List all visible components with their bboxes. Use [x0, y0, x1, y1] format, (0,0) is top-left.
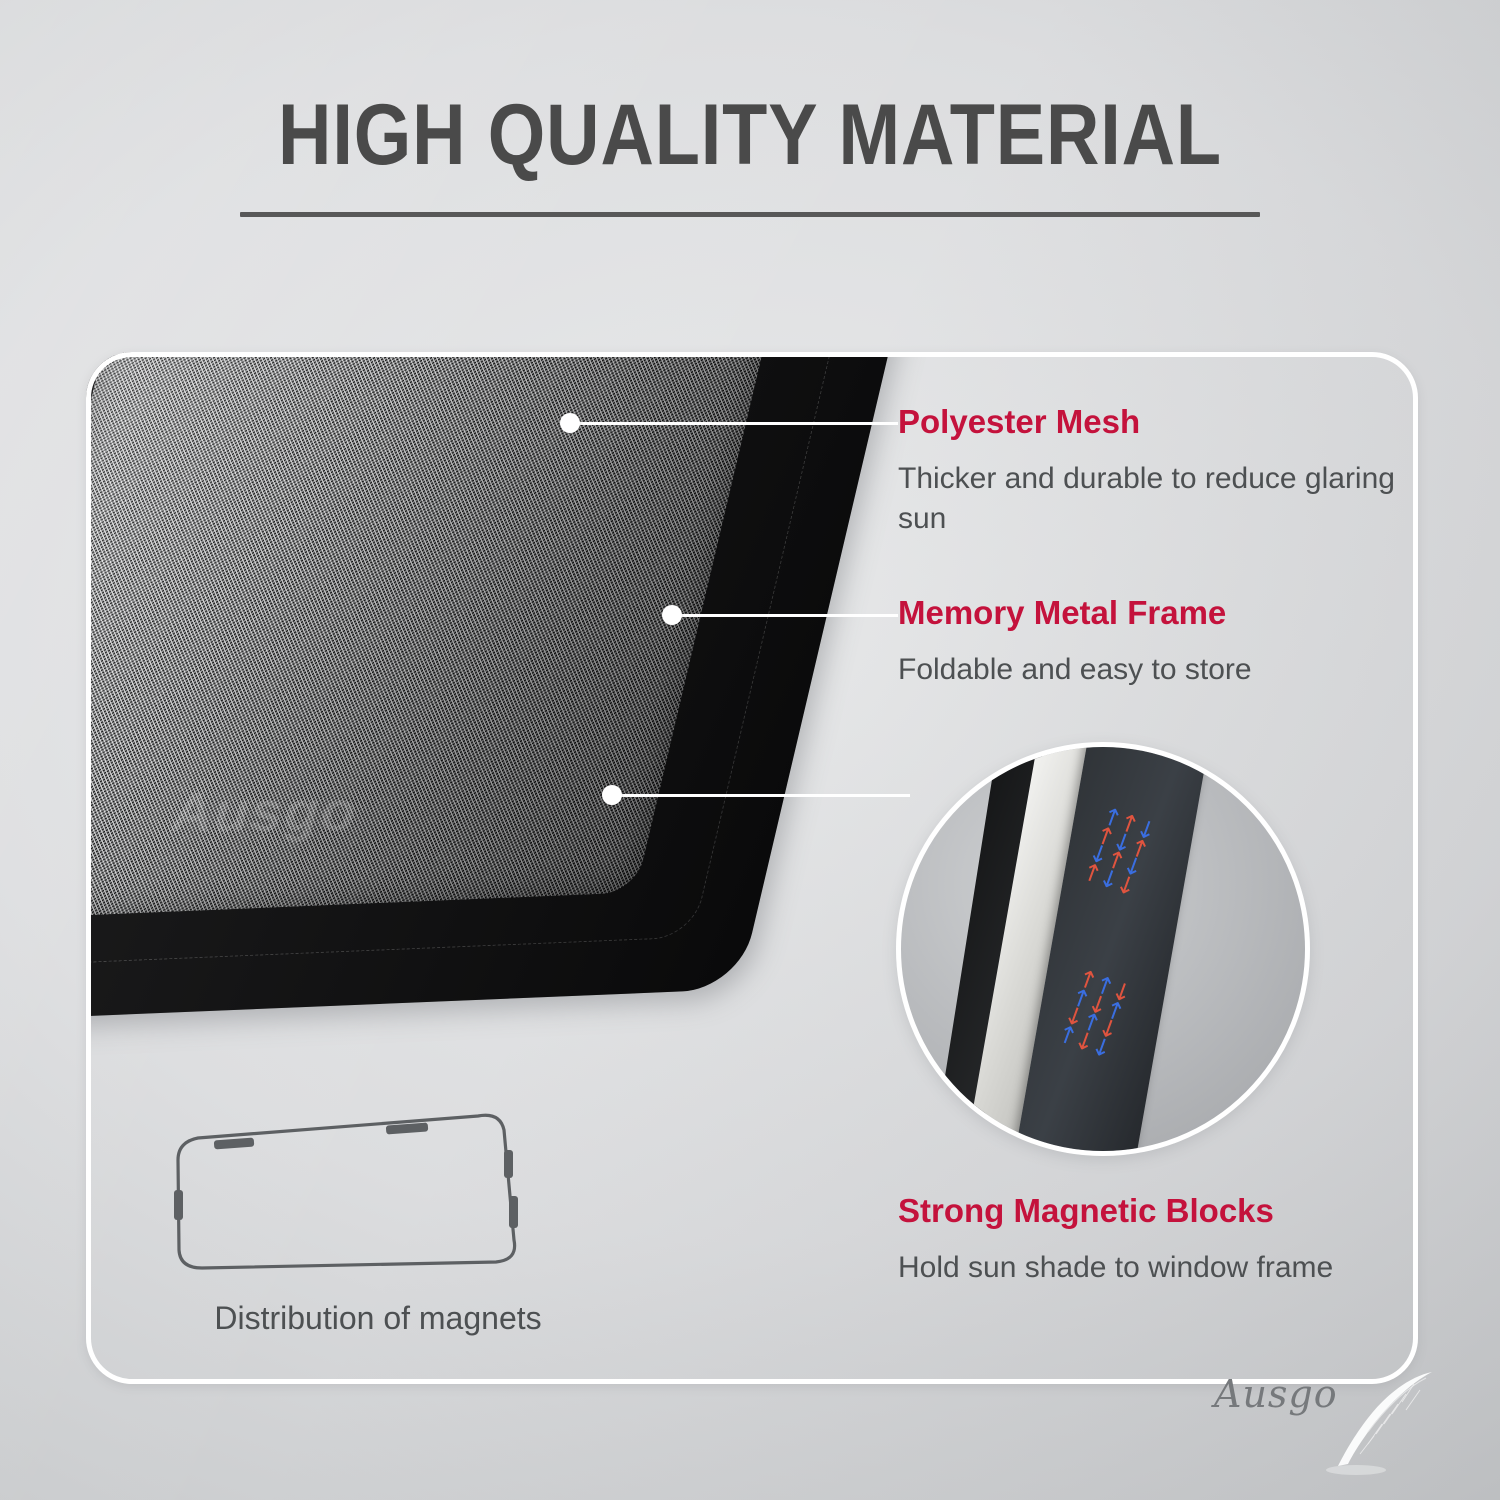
- magnet-bar-top-left: [214, 1138, 255, 1150]
- magnet-polarity-arrows-top: ↑↑↓ ↑↓↑ ↓↑↓ ↑↓↓: [1079, 806, 1157, 899]
- callout-dot-memory-metal-frame: [662, 605, 682, 625]
- callout-dot-polyester-mesh: [560, 413, 580, 433]
- callout-line-memory-metal-frame: [680, 614, 898, 617]
- magnified-magnet-inset: ↑↑↓ ↑↓↑ ↓↑↓ ↑↓↓ ↑↑↓ ↑↓↑ ↓↑↓ ↑↓↓: [896, 742, 1310, 1156]
- magnet-bar-left: [174, 1190, 183, 1220]
- callout-line-polyester-mesh: [578, 422, 898, 425]
- magnet-distribution-svg: [168, 1108, 588, 1288]
- title-underline-rule: [240, 212, 1260, 217]
- magnet-bar-right-upper: [504, 1150, 513, 1178]
- callout-strong-magnetic-blocks: Strong Magnetic Blocks Hold sun shade to…: [898, 1192, 1418, 1288]
- magnet-distribution-diagram: [168, 1108, 588, 1288]
- callout-polyester-mesh: Polyester Mesh Thicker and durable to re…: [898, 403, 1418, 539]
- page-title: HIGH QUALITY MATERIAL: [105, 92, 1395, 178]
- window-outline-path: [178, 1115, 515, 1268]
- callout-body-memory-metal-frame: Foldable and easy to store: [898, 650, 1418, 690]
- brand-mark: Ausgo: [1204, 1356, 1444, 1476]
- header: HIGH QUALITY MATERIAL: [0, 92, 1500, 217]
- callout-line-strong-magnetic-blocks: [620, 794, 910, 797]
- callout-memory-metal-frame: Memory Metal Frame Foldable and easy to …: [898, 594, 1418, 690]
- feather-icon: [1294, 1366, 1444, 1476]
- magnet-diagram-caption: Distribution of magnets: [168, 1300, 588, 1337]
- callout-dot-strong-magnetic-blocks: [602, 785, 622, 805]
- callout-heading-memory-metal-frame: Memory Metal Frame: [898, 594, 1418, 632]
- magnet-polarity-arrows-bottom: ↑↑↓ ↑↓↑ ↓↑↓ ↑↓↓: [1054, 968, 1132, 1061]
- magnet-bar-right-lower: [509, 1196, 518, 1228]
- callout-body-strong-magnetic-blocks: Hold sun shade to window frame: [898, 1248, 1418, 1288]
- callout-body-polyester-mesh: Thicker and durable to reduce glaring su…: [898, 459, 1418, 539]
- callout-heading-polyester-mesh: Polyester Mesh: [898, 403, 1418, 441]
- callout-heading-strong-magnetic-blocks: Strong Magnetic Blocks: [898, 1192, 1418, 1230]
